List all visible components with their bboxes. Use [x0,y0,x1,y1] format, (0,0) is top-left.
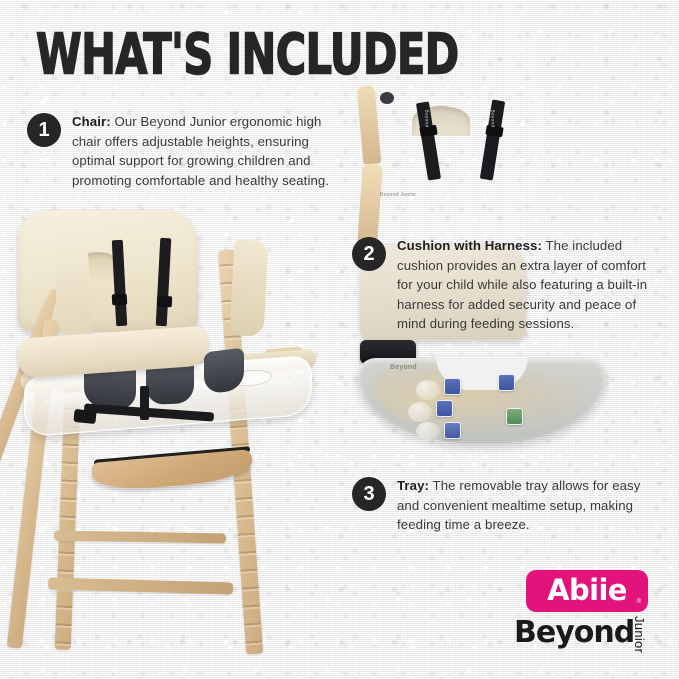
chair-harness-slider-left [112,294,128,306]
chair-footrest-board [92,449,252,493]
feature-text-2: Cushion with Harness: The included cushi… [397,236,662,334]
tray-label-circle-3 [416,422,440,440]
feature-body-3: The removable tray allows for easy and c… [397,478,640,532]
cushion-chair-wood-left [357,85,382,164]
tray-brand-text: Beyond [390,364,417,371]
feature-badge-1: 1 [27,113,61,147]
chair-backrest-wing-right [230,239,269,337]
product-image-high-chair [18,210,318,665]
cushion-strap-brand-left: Beyond [424,110,429,128]
tray-sticker-2 [436,400,453,417]
feature-heading-3: Tray: [397,478,429,493]
logo-product-line: Beyond [514,618,634,648]
feature-item-cushion: 2 Cushion with Harness: The included cus… [352,236,662,334]
tray-label-circle-2 [408,402,432,422]
chair-harness-slider-right [157,296,173,308]
logo-registered-mark: ® [637,599,641,605]
chair-lower-rail [48,578,233,595]
tray-sticker-4 [498,374,515,391]
product-image-tray: Beyond [358,358,606,458]
cushion-chair-wood-right [357,163,383,244]
feature-heading-1: Chair: [72,114,111,129]
tray-label-circle-1 [416,380,440,400]
feature-item-chair: 1 Chair: Our Beyond Junior ergonomic hig… [27,112,337,190]
feature-text-3: Tray: The removable tray allows for easy… [397,476,662,535]
page-title: WHAT'S INCLUDED [36,22,459,87]
logo-product-suffix: Junior [632,616,647,653]
chair-middle-rail [54,530,226,543]
tray-sticker-3 [444,422,461,439]
logo-brand-text: Abiie [547,576,627,605]
tray-sticker-1 [444,378,461,395]
cushion-strap-brand-right: Beyond [490,110,495,128]
chair-backrest-wing-left [54,243,93,337]
brand-logo: Abiie ® Beyond Junior [512,570,668,662]
logo-badge: Abiie ® [526,570,648,612]
feature-body-1: Our Beyond Junior ergonomic high chair o… [72,114,329,188]
infographic-root: WHAT'S INCLUDED [0,0,679,679]
chair-harness-clip [73,409,96,424]
feature-badge-2: 2 [352,237,386,271]
feature-item-tray: 3 Tray: The removable tray allows for ea… [352,476,662,535]
tray-sticker-5 [506,408,523,425]
feature-text-1: Chair: Our Beyond Junior ergonomic high … [72,112,337,190]
feature-badge-3: 3 [352,477,386,511]
product-image-cushion-harness: Beyond Beyond Beyond Junior [360,86,596,214]
cushion-tray-label: Beyond Junior [380,192,416,198]
feature-heading-2: Cushion with Harness: [397,238,542,253]
